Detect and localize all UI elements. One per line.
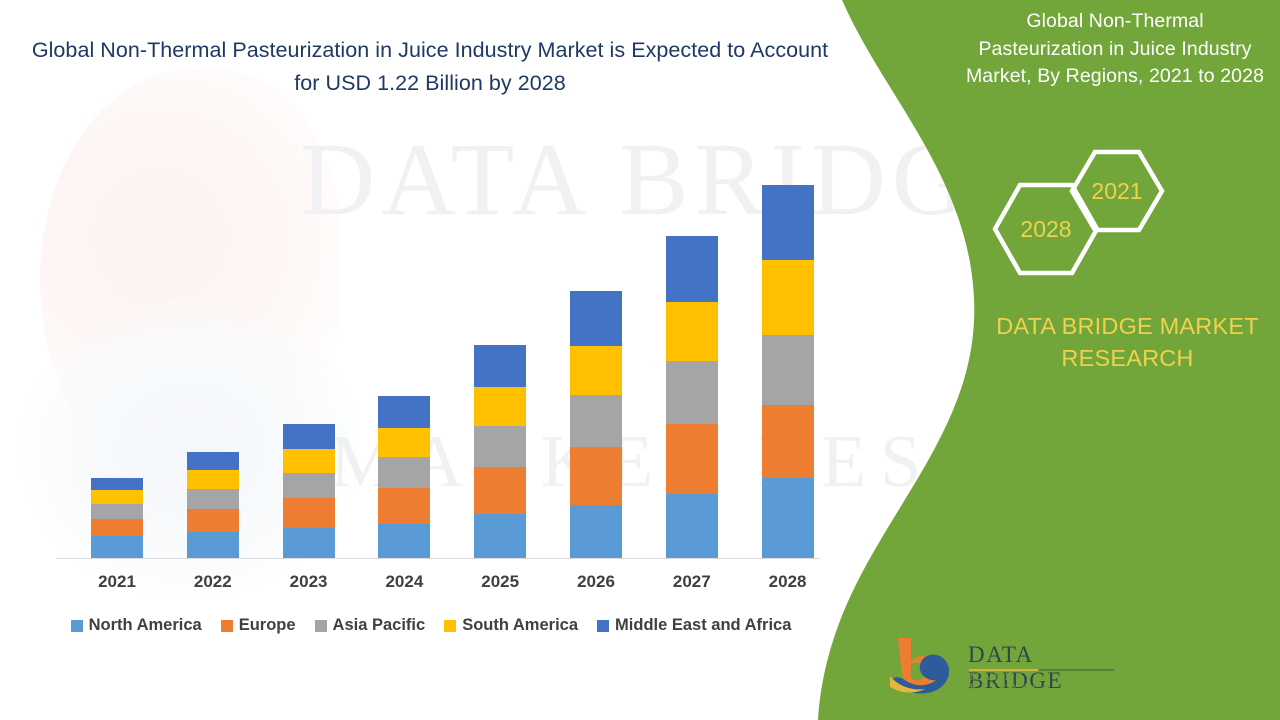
chart-plot-area: [56, 160, 820, 559]
bar-segment[interactable]: [91, 519, 143, 536]
legend-item[interactable]: South America: [444, 616, 578, 635]
slide-canvas: DATA BRIDGE MARKET RESEARCH Global Non-T…: [0, 0, 1280, 720]
legend-item[interactable]: Europe: [221, 616, 296, 635]
legend-swatch-icon: [597, 620, 609, 632]
bar-segment[interactable]: [570, 291, 622, 346]
bar-segment[interactable]: [91, 504, 143, 519]
bar-segment[interactable]: [666, 494, 718, 558]
bar-group-2024[interactable]: [378, 396, 430, 558]
bar-segment[interactable]: [283, 528, 335, 558]
legend-item[interactable]: Middle East and Africa: [597, 616, 791, 635]
bar-segment[interactable]: [474, 387, 526, 426]
bar-segment[interactable]: [187, 470, 239, 489]
legend-swatch-icon: [221, 620, 233, 632]
bar-segment[interactable]: [187, 532, 239, 558]
panel-title: Global Non-Thermal Pasteurization in Jui…: [950, 8, 1280, 91]
hexagon-2021-label: 2021: [1091, 178, 1142, 205]
bar-segment[interactable]: [570, 505, 622, 558]
bar-segment[interactable]: [378, 457, 430, 488]
bar-segment[interactable]: [762, 185, 814, 260]
hexagon-2021: 2021: [1068, 148, 1166, 234]
x-axis-label-2023: 2023: [269, 572, 349, 592]
logo-secondary-text: MARKET RESEARCH: [970, 672, 1120, 694]
bar-segment[interactable]: [666, 236, 718, 302]
bar-segment[interactable]: [570, 346, 622, 395]
bar-segment[interactable]: [283, 424, 335, 449]
x-axis-label-2028: 2028: [748, 572, 828, 592]
bar-segment[interactable]: [666, 302, 718, 361]
x-axis-label-2025: 2025: [460, 572, 540, 592]
x-axis-label-2021: 2021: [77, 572, 157, 592]
legend-item[interactable]: North America: [71, 616, 202, 635]
x-axis-label-2022: 2022: [173, 572, 253, 592]
bar-segment[interactable]: [187, 452, 239, 470]
bar-segment[interactable]: [283, 498, 335, 528]
legend-label: Europe: [239, 616, 296, 635]
bar-group-2028[interactable]: [762, 185, 814, 558]
bar-segment[interactable]: [474, 426, 526, 467]
bar-group-2023[interactable]: [283, 424, 335, 558]
bar-segment[interactable]: [91, 490, 143, 504]
bar-group-2022[interactable]: [187, 452, 239, 558]
bar-segment[interactable]: [474, 514, 526, 558]
chart-title: Global Non-Thermal Pasteurization in Jui…: [30, 34, 830, 99]
x-axis-tick-labels: 20212022202320242025202620272028: [56, 572, 820, 598]
bar-segment[interactable]: [474, 345, 526, 387]
x-axis-label-2024: 2024: [364, 572, 444, 592]
bar-segment[interactable]: [570, 447, 622, 505]
hexagon-group: 2028 2021: [990, 148, 1210, 288]
logo-divider: [969, 669, 1114, 671]
company-logo: DATA BRIDGE MARKET RESEARCH: [890, 636, 1120, 702]
bar-segment[interactable]: [187, 489, 239, 509]
bar-segment[interactable]: [283, 449, 335, 473]
chart-legend: North AmericaEuropeAsia PacificSouth Ame…: [0, 616, 862, 635]
bar-segment[interactable]: [474, 467, 526, 514]
bar-segment[interactable]: [91, 536, 143, 558]
bar-segment[interactable]: [762, 478, 814, 558]
bar-segment[interactable]: [378, 396, 430, 428]
legend-item[interactable]: Asia Pacific: [315, 616, 426, 635]
bar-group-2027[interactable]: [666, 236, 718, 558]
x-axis-label-2027: 2027: [652, 572, 732, 592]
bar-segment[interactable]: [91, 478, 143, 490]
hexagon-2028-label: 2028: [1020, 216, 1071, 243]
bar-segment[interactable]: [378, 488, 430, 524]
legend-swatch-icon: [315, 620, 327, 632]
legend-label: Middle East and Africa: [615, 616, 791, 635]
bar-segment[interactable]: [570, 395, 622, 447]
legend-label: Asia Pacific: [333, 616, 426, 635]
bar-group-2025[interactable]: [474, 345, 526, 558]
bar-segment[interactable]: [666, 424, 718, 494]
bar-segment[interactable]: [378, 524, 430, 558]
x-axis-label-2026: 2026: [556, 572, 636, 592]
bar-group-2021[interactable]: [91, 478, 143, 558]
legend-label: North America: [89, 616, 202, 635]
bar-segment[interactable]: [187, 509, 239, 532]
x-axis-line: [56, 558, 820, 559]
bar-segment[interactable]: [762, 335, 814, 405]
brand-name: DATA BRIDGE MARKET RESEARCH: [985, 310, 1270, 375]
bar-segment[interactable]: [378, 428, 430, 457]
bar-segment[interactable]: [762, 405, 814, 478]
bar-group-2026[interactable]: [570, 291, 622, 558]
legend-swatch-icon: [71, 620, 83, 632]
bar-segment[interactable]: [283, 473, 335, 498]
legend-label: South America: [462, 616, 578, 635]
logo-mark-icon: [890, 636, 970, 698]
bar-segment[interactable]: [762, 260, 814, 335]
bar-segment[interactable]: [666, 361, 718, 424]
legend-swatch-icon: [444, 620, 456, 632]
